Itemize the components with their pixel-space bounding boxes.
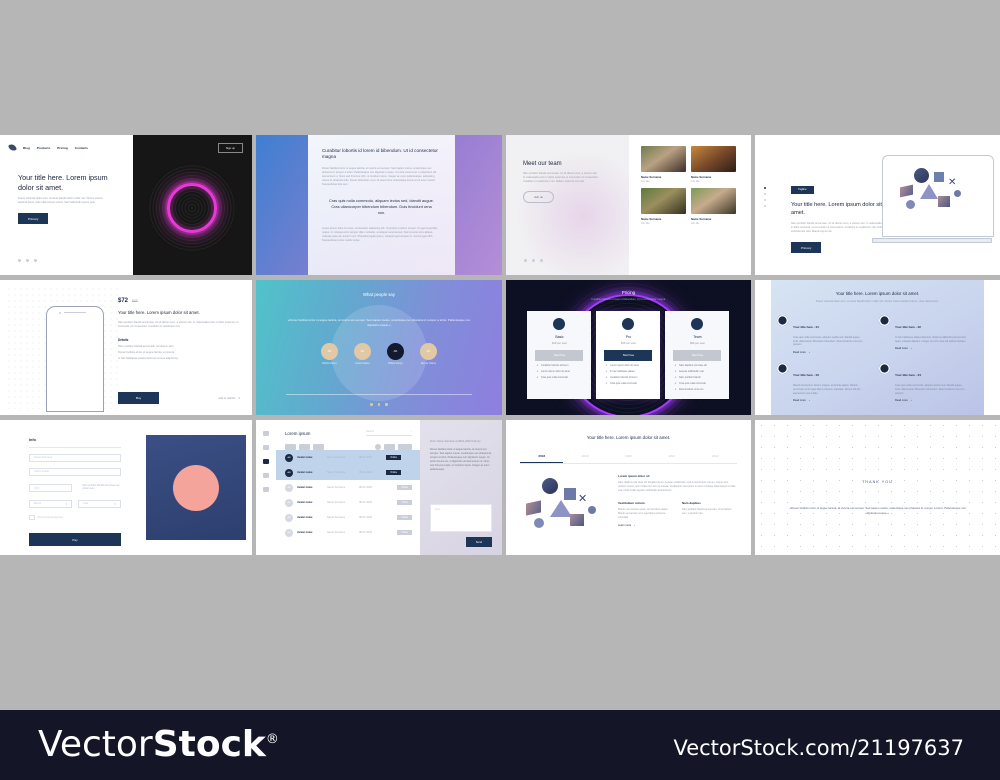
nav-item-products[interactable]: Products [37,146,50,150]
product-title: Your title here. Lorem ipsum dolor sit a… [118,310,240,316]
team-member-name: Name Surname [641,175,686,179]
abstract-shapes-icon: ✕ [898,166,968,224]
status-badge: Online [386,455,401,460]
status-badge: Online [397,485,412,490]
check-icon: ✓ [674,388,676,391]
team-member-card[interactable]: Name Surname Job title [691,146,736,183]
hero-title: Your title here. Lorem ipsum dolor sit a… [18,173,113,192]
status-badge: Online [397,515,412,520]
article-heading: Curabitur lobortis id lorem id bibendum.… [322,148,441,161]
row-name: Name Surname [327,456,355,459]
year-tab-active[interactable]: 2018 [520,454,563,463]
team-heading: Meet our team [506,135,630,167]
template-card-inbox[interactable]: Lorem ipsum Search ⌕ [256,420,502,555]
avatar-initials: AN [387,343,404,360]
year-select[interactable]: Year [78,500,121,508]
tier-price: $99 per user [665,342,729,345]
tier-icon [553,318,565,330]
avatar-name: Philips Clancy [387,363,404,366]
card-number-field[interactable]: Card number [29,468,121,476]
timeline-lead-body: Nam dapibus nisl vitae elit fringilla ru… [618,481,737,493]
reply-textarea[interactable]: Text [430,504,492,532]
article-body: Donec facilisis tortor ut augue lacinia,… [322,167,441,187]
template-card-article[interactable]: Curabitur lobortis id lorem id bibendum.… [256,135,502,275]
template-card-timeline[interactable]: Your title here. Lorem ipsum dolor sit a… [506,420,751,555]
tier-feature: ✓Lorem ipsum dolor sit amet [536,370,591,373]
hero-primary-button[interactable]: Primary [18,213,48,224]
check-icon: ✓ [605,364,607,367]
testimonial-quote: «Donec facilisis tortor ut augue lacinia… [286,318,472,327]
thankyou-heading: THANK YOU [755,420,1000,484]
team-member-job: Job title [641,222,686,225]
add-to-wishlist-button[interactable]: Add to wishlist ♥ [218,397,240,400]
screenshot-stage: Blog Products Pricing Contacts Your titl… [0,0,1000,780]
testimonials-heading: What people say [256,280,502,297]
hero-right-panel: Sign up [133,135,252,275]
feature-item[interactable]: Your title here - 04 Cras quis nulla com… [879,363,967,402]
team-right-panel: Name Surname Job title Name Surname Job … [629,135,751,275]
status-badge: Online [397,530,412,535]
team-member-name: Name Surname [691,217,736,221]
tagline-badge: Tagline [791,186,814,194]
feature-item[interactable]: Your title here - 01 Cras quis nulla com… [777,315,865,354]
chevron-right-icon: › [911,399,912,402]
message-body: Donec facilisis tortor ut augue lacinia,… [430,448,492,472]
article-body-2: Lorem ipsum dolor sit amet, consectetur … [322,227,441,243]
pricing-tier-team[interactable]: Team $99 per user Start free ✓Nam dapibu… [665,311,729,399]
row-avatar-name: Avatar name [297,531,323,534]
wave-circle-icon [173,465,219,511]
payment-form: Info Name Surname Card number CVV Nam po… [0,420,157,555]
search-placeholder: Search [366,430,374,433]
template-card-pricing[interactable]: Pricing Curabitur lobortis id lorem id b… [506,280,751,415]
check-icon: ✓ [674,376,676,379]
avatar-initials: AN [321,343,338,360]
inbox-row[interactable]: AN Avatar name Name Surname 08.01.2020 O… [276,510,420,525]
check-icon: ✓ [536,364,538,367]
team-member-photo [691,146,736,172]
read-more-link[interactable]: Read more› [895,347,967,350]
payment-heading: Info [29,438,157,442]
hero-body: Fusce vehicula dolor arcu, sit amet blan… [18,197,108,205]
tier-feature: ✓Cras quis nulla commodo [605,382,660,385]
folder-icon [263,459,269,464]
tier-feature: ✓Duis tincidunt urna non [674,388,729,391]
feature-title: Your title here - 01 [793,325,819,329]
testimonial-avatar[interactable]: AN Werner Clancy [420,343,437,366]
template-row-3: Info Name Surname Card number CVV Nam po… [0,420,1000,555]
avatar-initials: AN [420,343,437,360]
join-us-button[interactable]: Join us [523,191,554,203]
check-icon: ✓ [605,370,607,373]
page-button[interactable] [384,444,395,450]
team-member-name: Name Surname [691,175,736,179]
team-member-job: Job title [691,180,736,183]
hero-navbar[interactable]: Blog Products Pricing Contacts [0,135,134,151]
row-avatar-name: Avatar name [297,501,323,504]
row-avatar-name: Avatar name [297,516,323,519]
timeline-lead-title: Lorem ipsum dolor sit [618,474,737,478]
inbox-sidebar[interactable] [256,420,276,555]
chevron-right-icon: › [809,351,810,354]
inbox-title: Lorem ipsum [285,431,310,436]
tier-name: Pro [596,335,660,339]
tier-name: Team [665,335,729,339]
team-member-card[interactable]: Name Surname Job title [641,146,686,183]
avatar: AN [285,469,293,477]
check-icon: ✓ [536,376,538,379]
row-avatar-name: Avatar name [297,471,323,474]
template-card-product[interactable]: $72 $98 Your title here. Lorem ipsum dol… [0,280,252,415]
year-tab[interactable]: 2020 [607,454,650,463]
hero-content: Your title here. Lorem ipsum dolor sit a… [0,151,134,225]
team-member-photo [641,146,686,172]
pricing-tier-basic[interactable]: Basic $19 per user Start free ✓Curabitur… [527,311,591,399]
month-select[interactable]: Month [29,500,72,508]
team-member-photo [691,188,736,214]
avatar: AN [285,499,293,507]
inbox-toolbar[interactable] [276,436,420,450]
row-date: 08.01.2020 [359,456,381,459]
buy-button[interactable]: Buy [118,392,159,404]
row-name: Name Surname [327,531,355,534]
timeline-column: Vestibulum rutrum Mauris non tempor quam… [618,501,673,520]
mail-icon [263,445,269,450]
team-member-name: Name Surname [641,217,686,221]
remember-payment-checkbox[interactable]: Remembered payment [29,515,157,521]
avatar-initials: AN [354,343,371,360]
features-right-margin [984,280,1000,415]
feature-body: In hac habitasse platea dictumst. Vivamu… [895,336,967,344]
template-card-laptop[interactable]: Tagline Your title here. Lorem ipsum dol… [755,135,1000,275]
product-body: Nam porttitor blandit accumsan. Ut sit d… [118,321,240,329]
check-icon: ✓ [674,382,676,385]
template-card-hero-dark[interactable]: Blog Products Pricing Contacts Your titl… [0,135,252,275]
check-icon: ✓ [536,370,538,373]
row-avatar-name: Avatar name [297,486,323,489]
inbox-list-panel: Lorem ipsum Search ⌕ [276,420,420,555]
tier-icon [622,318,634,330]
divider [286,394,472,395]
features-left-margin [755,280,771,415]
row-avatar-name: Avatar name [297,456,323,459]
check-icon: ✓ [674,364,676,367]
neon-circle-icon [167,183,217,233]
payment-artwork [146,435,246,540]
tier-feature: ✓In hac habitasse platea [605,370,660,373]
chevron-right-icon: › [911,347,912,350]
feature-body: Cras quis nulla commodo, aliquam sedila … [793,336,865,348]
nav-item-blog[interactable]: Blog [23,146,30,150]
article-pullquote: Cras quis nulla commodo, aliquam lectus … [328,198,435,216]
template-card-payment[interactable]: Info Name Surname Card number CVV Nam po… [0,420,252,555]
testimonial-avatar[interactable]: AN Ulrichs Clancy [321,343,338,366]
status-badge: Online [397,500,412,505]
article-sheet: Curabitur lobortis id lorem id bibendum.… [308,135,455,275]
heart-icon: ♥ [238,397,240,400]
avatar-name: Ulrichs Clancy [321,363,338,366]
start-free-button[interactable]: Start free [673,350,721,361]
feature-circle-icon [777,363,788,374]
avatar-name: Arnico Clancy [354,363,371,366]
inbox-row[interactable]: AN Avatar name Name Surname 08.01.2020 O… [276,525,420,540]
row-name: Name Surname [327,486,355,489]
pricing-heading: Pricing [506,280,751,295]
nav-item-pricing[interactable]: Pricing [57,146,68,150]
testimonial-avatars[interactable]: AN Ulrichs Clancy AN Arnico Clancy AN Ph… [256,343,502,366]
read-more-link[interactable]: Read more› [895,399,967,402]
search-icon: ⌕ [411,430,412,433]
avatar: AN [285,454,293,462]
thankyou-quote: «Donec facilisis tortor ut augue lacinia… [783,506,972,515]
delete-button[interactable] [299,444,310,450]
product-price: $72 [118,298,128,304]
row-date: 08.01.2020 [359,501,381,504]
pay-button[interactable]: Pay [29,533,121,546]
laptop-slide-dots[interactable] [764,187,766,207]
team-carousel-dots[interactable] [524,259,543,262]
row-name: Name Surname [327,516,355,519]
tier-feature: ✓Curabitur lobortis id lorem [605,376,660,379]
year-tabs[interactable]: 2018 2019 2020 2021 2022 [520,454,737,464]
column-body: Nam porttitor blandit accumsan. Ut sit d… [682,508,737,516]
start-free-button[interactable]: Start free [535,350,583,361]
avatar: AN [285,529,293,537]
template-card-thankyou[interactable]: THANK YOU «Donec facilisis tortor ut aug… [755,420,1000,555]
name-field[interactable]: Name Surname [29,454,121,462]
pricing-subtitle: Curabitur lobortis id lorem id bibendum.… [506,298,751,301]
tier-feature: ✓Nam dapibus nisl vitae elit [674,364,729,367]
inbox-row[interactable]: AN Avatar name Name Surname 08.01.2020 O… [276,465,420,480]
hero-carousel-dots[interactable] [18,259,37,262]
avatar: AN [285,484,293,492]
features-grid: Your title here - 01 Cras quis nulla com… [755,304,1000,402]
testimonial-avatar-active[interactable]: AN Philips Clancy [387,343,404,366]
tier-feature: ✓Lorem ipsum dolor sit amet [605,364,660,367]
product-detail-item: In hac habitasse platea dictumst cursus … [118,357,240,360]
tier-feature: ✓Aenean sollicitudin erat [674,370,729,373]
checkbox-icon [29,515,35,521]
laptop-primary-button[interactable]: Primary [791,242,821,253]
team-member-job: Job title [641,180,686,183]
template-row-2: $72 $98 Your title here. Lorem ipsum dol… [0,280,1000,415]
archive-button[interactable] [285,444,296,450]
check-icon: ✓ [674,370,676,373]
learn-more-link[interactable]: Learn more› [618,524,737,527]
phone-illustration [46,306,104,412]
inbox-row[interactable]: AN Avatar name Name Surname 08.01.2020 O… [276,480,420,495]
features-heading: Your title here. Lorem ipsum dolor sit a… [755,280,1000,296]
row-name: Name Surname [327,501,355,504]
feature-item[interactable]: Your title here - 03 Mauris fermentum di… [777,363,865,402]
vectorstock-url: VectorStock.com/21197637 [673,736,964,760]
inbox-message-pane: From: Name Surname at 08.01.2020 9:40 am… [420,420,502,555]
product-price-old: $98 [132,299,138,303]
timeline-heading: Your title here. Lorem ipsum dolor sit a… [506,420,751,440]
check-icon: ✓ [605,376,607,379]
flag-button[interactable] [313,444,324,450]
row-date: 08.01.2020 [359,531,381,534]
timeline-artwork: ✕ [520,474,612,536]
row-name: Name Surname [327,471,355,474]
product-right-panel: $72 $98 Your title here. Lorem ipsum dol… [118,280,252,415]
checkbox-label: Remembered payment [38,516,63,519]
signup-button[interactable]: Sign up [218,143,243,153]
pricing-tiers: Basic $19 per user Start free ✓Curabitur… [506,311,751,399]
search-input[interactable]: Search ⌕ [366,430,412,436]
divider [29,447,121,448]
tier-price: $19 per user [527,342,591,345]
hero-left-panel: Blog Products Pricing Contacts Your titl… [0,135,134,275]
template-card-team[interactable]: Meet our team Nam porttitor blandit accu… [506,135,751,275]
testimonial-avatar[interactable]: AN Arnico Clancy [354,343,371,366]
prev-button[interactable] [375,444,381,450]
inbox-row[interactable]: AN Avatar name Name Surname 08.01.2020 O… [276,495,420,510]
feature-title: Your title here - 02 [895,325,921,329]
settings-icon [263,473,269,478]
laptop-illustration: ✕ [872,155,994,247]
laptop-content: Tagline Your title here. Lorem ipsum dol… [755,135,889,254]
product-details-heading: Details [118,338,240,342]
year-tab[interactable]: 2019 [563,454,606,463]
team-member-card[interactable]: Name Surname Job title [641,188,686,225]
feature-body: Mauris fermentum dictum magna, at lacini… [793,384,865,396]
check-icon: ✓ [605,382,607,385]
product-detail-item: Donec facilisis tortor ut augue lacinia,… [118,351,240,354]
testimonial-carousel-dots[interactable] [256,403,502,406]
feature-circle-icon [879,363,890,374]
chevron-right-icon: › [634,524,635,527]
product-left-panel [0,280,126,415]
row-date: 08.01.2020 [359,471,381,474]
row-date: 08.01.2020 [359,486,381,489]
home-icon [263,431,269,436]
team-member-card[interactable]: Name Surname Job title [691,188,736,225]
team-member-job: Job title [691,222,736,225]
avatar: AN [285,514,293,522]
message-meta: From: Name Surname at 08.01.2020 9:40 am [430,440,492,443]
template-grid: Blog Products Pricing Contacts Your titl… [0,135,1000,560]
read-more-link[interactable]: Read more› [793,399,865,402]
tier-feature: ✓Cras quis nulla commodo [674,382,729,385]
tier-icon [691,318,703,330]
feature-circle-icon [777,315,788,326]
avatar-name: Werner Clancy [420,363,437,366]
cvv-hint: Nam porttitor blandit accumsan vel dictu… [82,484,122,491]
feature-circle-icon [879,315,890,326]
year-tab[interactable]: 2022 [694,454,737,463]
send-button[interactable]: Send [466,537,492,547]
cvv-field[interactable]: CVV [29,484,72,492]
year-tab[interactable]: 2021 [650,454,693,463]
next-button[interactable] [398,444,412,450]
feature-body: Cras quis nulla commodo, aliquam lectus … [895,384,967,396]
status-badge: Online [386,470,401,475]
tier-price: $49 per user [596,342,660,345]
feature-title: Your title here - 04 [895,373,921,377]
tier-feature: ✓Nam porttitor blandit [674,376,729,379]
tier-name: Basic [527,335,591,339]
column-body: Mauris non tempor quam, ac tincidunt sap… [618,508,673,520]
feature-item[interactable]: Your title here - 02 In hac habitasse pl… [879,315,967,354]
team-body: Nam porttitor blandit accumsan. Ut sit d… [523,172,599,184]
wishlist-label: Add to wishlist [218,397,235,400]
column-title: Vestibulum rutrum [618,501,673,505]
row-date: 08.01.2020 [359,516,381,519]
team-left-panel: Meet our team Nam porttitor blandit accu… [506,135,630,275]
watermark-footer: VectorStock® VectorStock.com/21197637 [0,710,1000,780]
timeline-column: Nam dapibus Nam porttitor blandit accums… [682,501,737,520]
read-more-link[interactable]: Read more› [793,351,865,354]
tier-feature: ✓Cras quis nulla commodo [536,376,591,379]
chevron-right-icon: › [809,399,810,402]
tier-feature: ✓Curabitur lobortis id lorem [536,364,591,367]
template-card-testimonials[interactable]: What people say «Donec facilisis tortor … [256,280,502,415]
vectorstock-logo: VectorStock® [38,724,279,765]
feature-title: Your title here - 03 [793,373,819,377]
template-card-features[interactable]: Your title here. Lorem ipsum dolor sit a… [755,280,1000,415]
pricing-tier-pro[interactable]: Pro $49 per user Start free ✓Lorem ipsum… [596,311,660,399]
trash-icon [263,487,269,492]
inbox-row[interactable]: AN Avatar name Name Surname 08.01.2020 O… [276,450,420,465]
nav-item-contacts[interactable]: Contacts [75,146,88,150]
template-row-1: Blog Products Pricing Contacts Your titl… [0,135,1000,275]
start-free-button[interactable]: Start free [604,350,652,361]
team-grid: Name Surname Job title Name Surname Job … [629,146,751,225]
column-title: Nam dapibus [682,501,737,505]
product-detail-item: Nam porttitor blandit accumsan vel dictu… [118,345,240,348]
team-member-photo [641,188,686,214]
